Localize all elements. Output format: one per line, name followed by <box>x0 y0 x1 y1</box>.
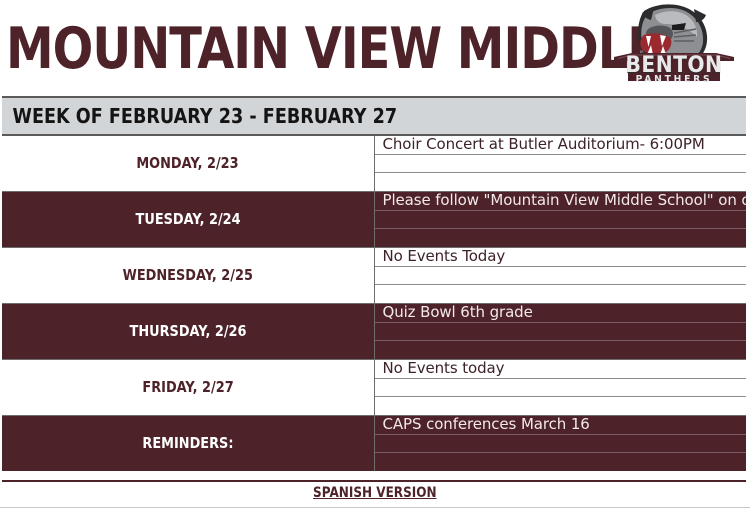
table-row: WEDNESDAY, 2/25 No Events Today <box>2 248 746 304</box>
benton-panthers-logo: BENTON PANTHERS <box>610 3 738 91</box>
event-line[interactable]: Please follow "Mountain View Middle Scho… <box>375 192 747 211</box>
day-content-cell-wednesday: No Events Today <box>374 248 746 304</box>
event-text: Quiz Bowl 6th grade <box>383 304 533 321</box>
event-lines: Please follow "Mountain View Middle Scho… <box>375 192 747 247</box>
day-label: MONDAY, 2/23 <box>137 154 239 172</box>
panther-head-icon <box>610 3 738 91</box>
day-content-cell-monday: Choir Concert at Butler Auditorium- 6:00… <box>374 135 746 192</box>
weekly-calendar-table: WEEK OF FEBRUARY 23 - FEBRUARY 27 MONDAY… <box>2 96 746 471</box>
table-row: TUESDAY, 2/24 Please follow "Mountain Vi… <box>2 192 746 248</box>
day-content-cell-tuesday: Please follow "Mountain View Middle Scho… <box>374 192 746 248</box>
day-label-cell-thursday: THURSDAY, 2/26 <box>2 304 374 360</box>
event-lines: Choir Concert at Butler Auditorium- 6:00… <box>375 136 747 191</box>
day-label-cell-tuesday: TUESDAY, 2/24 <box>2 192 374 248</box>
event-line[interactable] <box>375 285 747 303</box>
day-label-cell-reminders: REMINDERS: <box>2 416 374 472</box>
day-label: WEDNESDAY, 2/25 <box>123 266 253 284</box>
event-text: Please follow "Mountain View Middle Scho… <box>383 192 747 209</box>
event-line[interactable]: CAPS conferences March 16 <box>375 416 747 435</box>
event-line[interactable] <box>375 155 747 174</box>
day-content-cell-friday: No Events today <box>374 360 746 416</box>
day-label: TUESDAY, 2/24 <box>135 210 240 228</box>
event-lines: No Events today <box>375 360 747 415</box>
event-lines: No Events Today <box>375 248 747 303</box>
day-label: REMINDERS: <box>142 434 233 452</box>
table-row: REMINDERS: CAPS conferences March 16 <box>2 416 746 472</box>
event-line[interactable] <box>375 379 747 398</box>
calendar-body: WEEK OF FEBRUARY 23 - FEBRUARY 27 MONDAY… <box>2 97 746 471</box>
event-text: No Events today <box>383 360 505 377</box>
week-header-cell: WEEK OF FEBRUARY 23 - FEBRUARY 27 <box>2 97 746 135</box>
day-label: FRIDAY, 2/27 <box>142 378 233 396</box>
event-text: CAPS conferences March 16 <box>383 416 590 433</box>
page-header: MOUNTAIN VIEW MIDDLE <box>0 0 750 95</box>
event-line[interactable] <box>375 341 747 359</box>
event-line[interactable] <box>375 229 747 247</box>
footer: SPANISH VERSION <box>0 484 750 502</box>
page-title: MOUNTAIN VIEW MIDDLE <box>6 18 659 80</box>
event-line[interactable] <box>375 435 747 454</box>
newsletter-page: MOUNTAIN VIEW MIDDLE <box>0 0 750 511</box>
event-line[interactable] <box>375 173 747 191</box>
event-lines: Quiz Bowl 6th grade <box>375 304 747 359</box>
table-row: MONDAY, 2/23 Choir Concert at Butler Aud… <box>2 135 746 192</box>
week-header-label: WEEK OF FEBRUARY 23 - FEBRUARY 27 <box>2 104 397 128</box>
week-header-row: WEEK OF FEBRUARY 23 - FEBRUARY 27 <box>2 97 746 135</box>
day-content-cell-reminders: CAPS conferences March 16 <box>374 416 746 472</box>
table-bottom-rule <box>2 480 746 482</box>
event-line[interactable] <box>375 397 747 415</box>
event-line[interactable]: Choir Concert at Butler Auditorium- 6:00… <box>375 136 747 155</box>
table-row: THURSDAY, 2/26 Quiz Bowl 6th grade <box>2 304 746 360</box>
day-label: THURSDAY, 2/26 <box>129 322 246 340</box>
event-line[interactable]: No Events today <box>375 360 747 379</box>
logo-banner <box>614 53 734 81</box>
event-line[interactable] <box>375 267 747 286</box>
event-line[interactable]: No Events Today <box>375 248 747 267</box>
day-label-cell-friday: FRIDAY, 2/27 <box>2 360 374 416</box>
day-content-cell-thursday: Quiz Bowl 6th grade <box>374 304 746 360</box>
event-line[interactable] <box>375 453 747 471</box>
day-label-cell-monday: MONDAY, 2/23 <box>2 135 374 192</box>
table-row: FRIDAY, 2/27 No Events today <box>2 360 746 416</box>
page-bottom-divider <box>0 507 750 508</box>
event-line[interactable]: Quiz Bowl 6th grade <box>375 304 747 323</box>
event-line[interactable] <box>375 211 747 230</box>
event-text: No Events Today <box>383 248 506 265</box>
spanish-version-link[interactable]: SPANISH VERSION <box>313 485 436 501</box>
event-lines: CAPS conferences March 16 <box>375 416 747 471</box>
day-label-cell-wednesday: WEDNESDAY, 2/25 <box>2 248 374 304</box>
event-text: Choir Concert at Butler Auditorium- 6:00… <box>383 136 705 153</box>
event-line[interactable] <box>375 323 747 342</box>
